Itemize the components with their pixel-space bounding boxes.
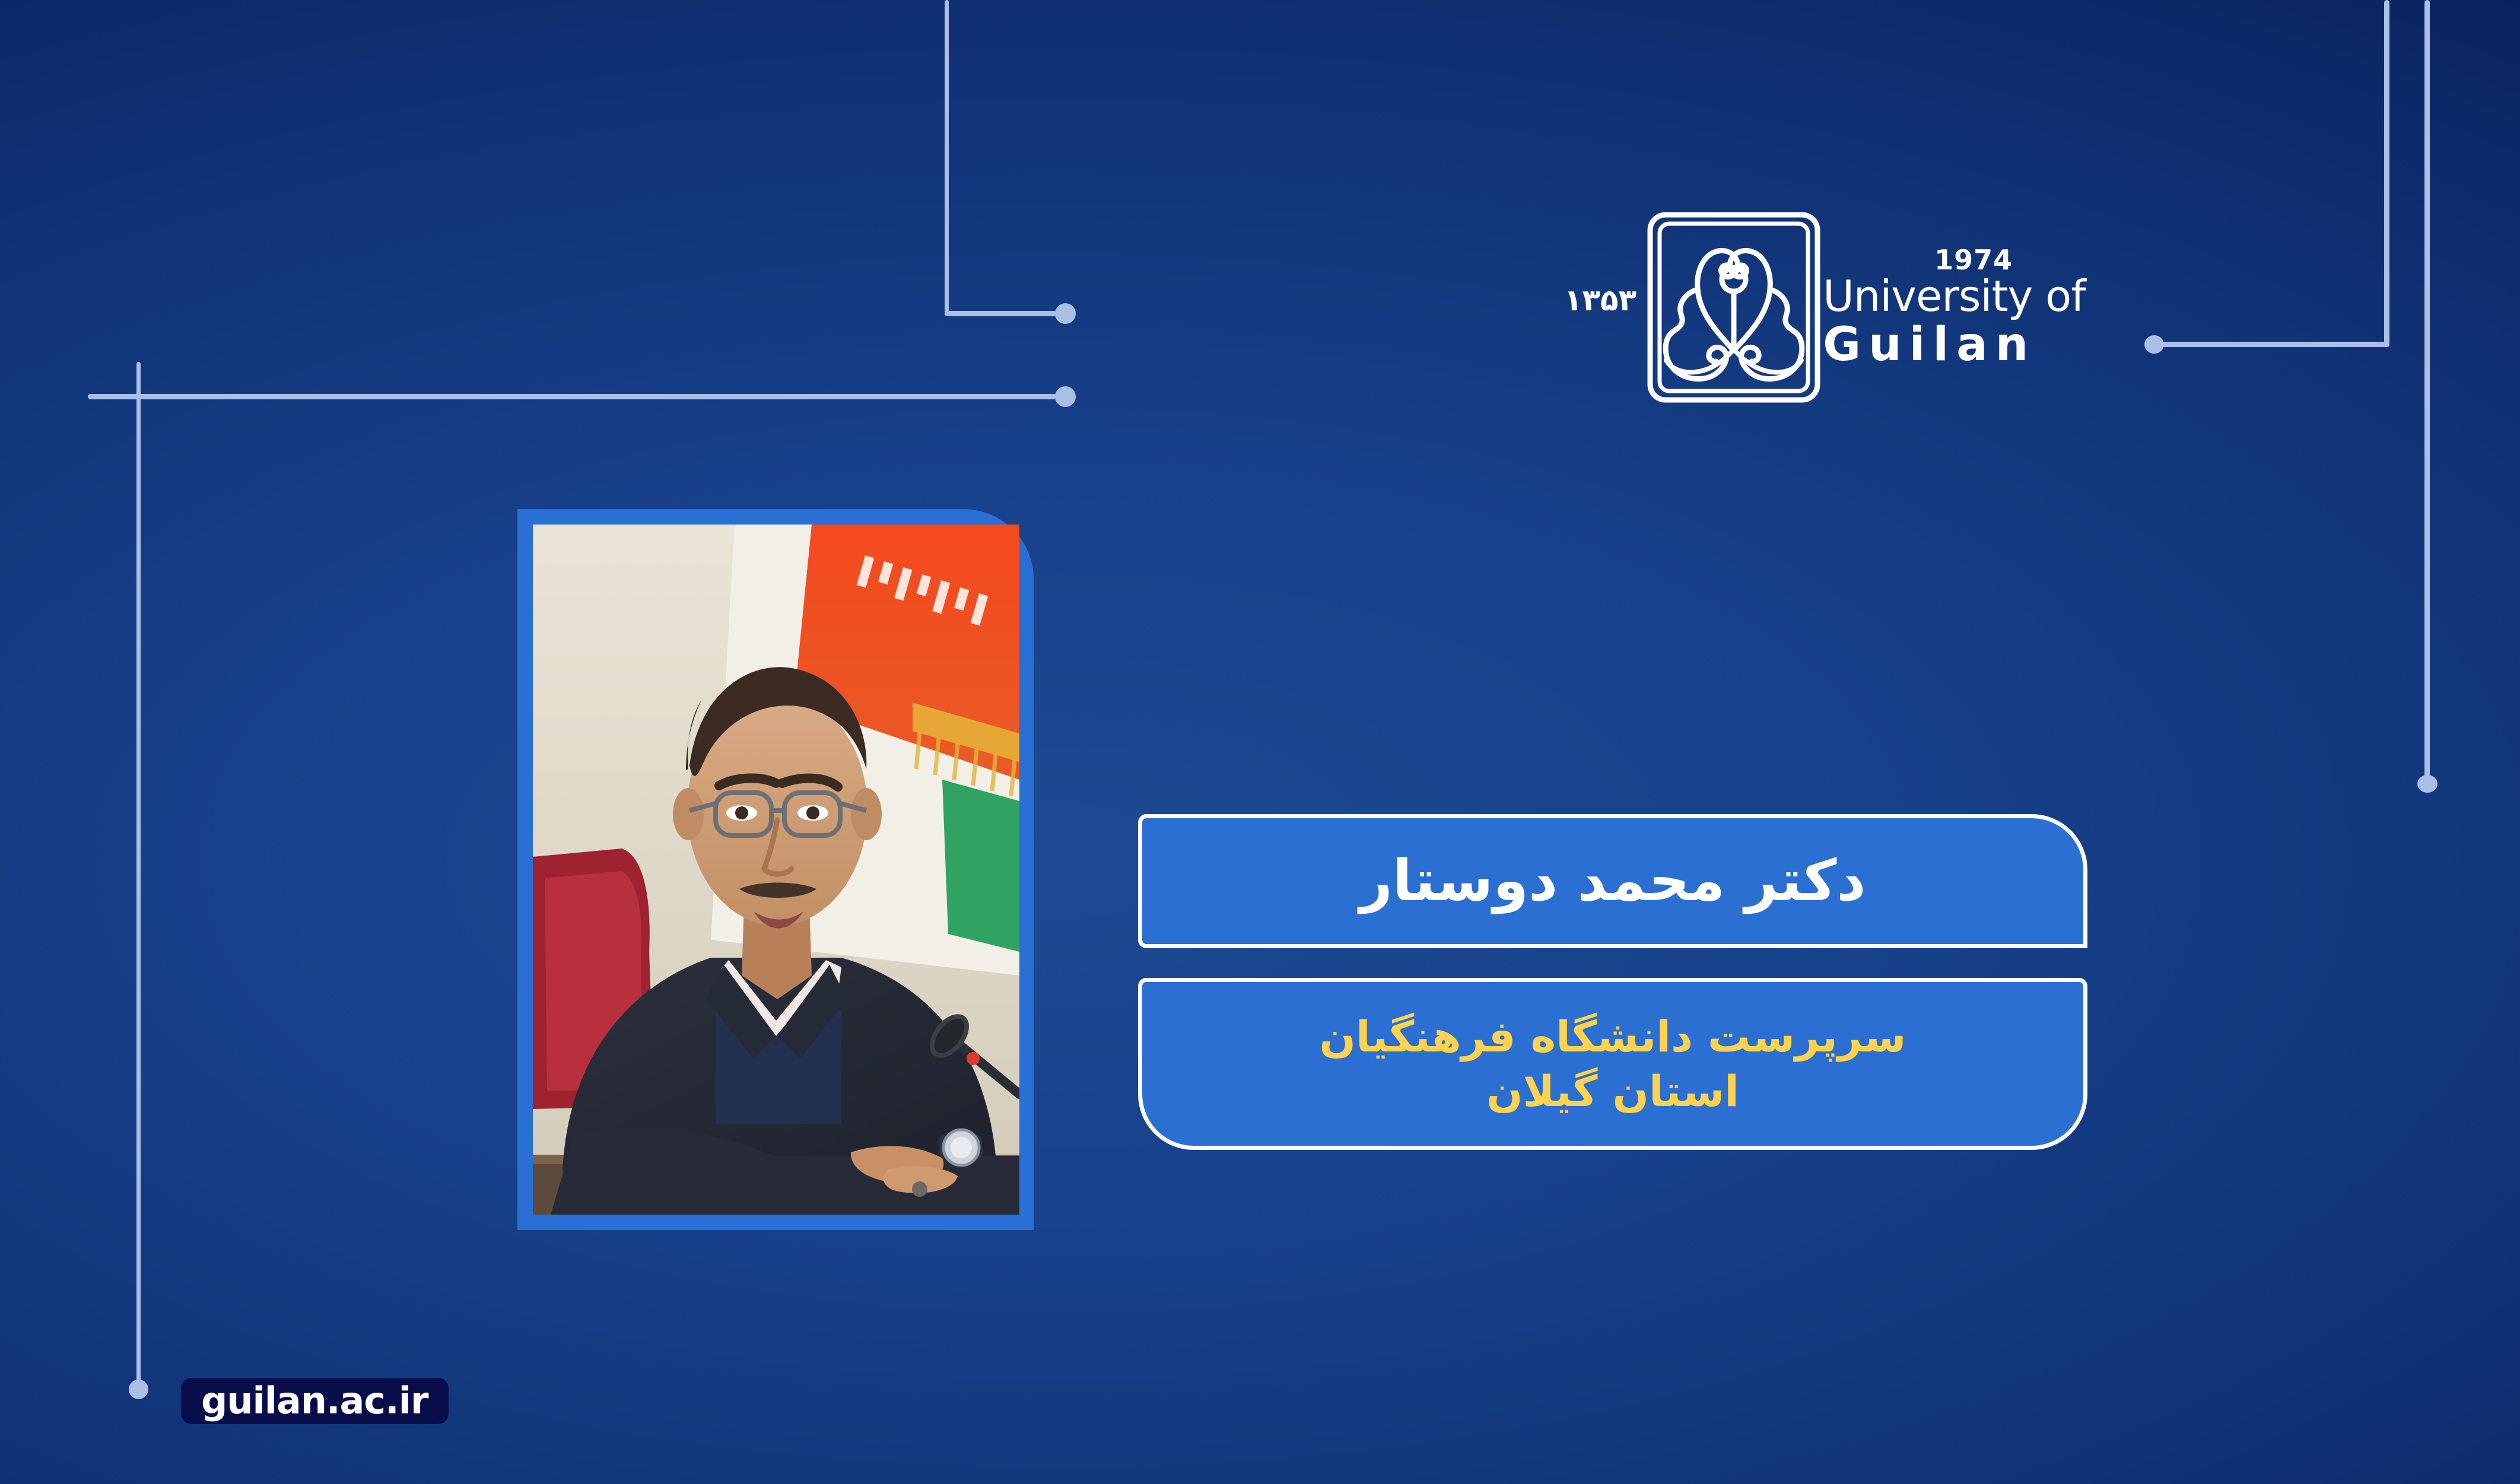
logo-persian-name: دانشگاه گیلان: [1172, 223, 1564, 395]
dot-right-lower-deco: [2417, 775, 2438, 793]
person-name-text: دکتر محمد دوستار: [1359, 850, 1866, 913]
logo-university-of-label: University of: [1823, 275, 2085, 318]
person-title-line1: سرپرست دانشگاه فرهنگیان: [1320, 1012, 1906, 1062]
logo-persian-text: ۱۳۵۳ دانشگاه گیلان: [1172, 223, 1645, 395]
vertical-line-upper-left-deco: [945, 0, 949, 313]
horizontal-line-mid-left-deco: [88, 394, 1073, 399]
vertical-line-left-long-deco: [136, 362, 141, 1386]
dot-mid-left-deco: [1055, 386, 1076, 407]
horizontal-line-right-deco: [2154, 342, 2389, 347]
vertical-line-right-deco: [2384, 0, 2389, 345]
person-title-plate: سرپرست دانشگاه فرهنگیان استان گیلان: [1138, 978, 2087, 1150]
portrait-photo: [533, 525, 1019, 1215]
person-title-text: سرپرست دانشگاه فرهنگیان استان گیلان: [1296, 1009, 1930, 1118]
vertical-line-right-long-deco: [2424, 0, 2430, 782]
portrait-frame: [517, 509, 1034, 1230]
horizontal-line-upper-left-deco: [945, 311, 1072, 316]
logo-year-english: 1974: [1934, 246, 2013, 274]
logo-english-text: 1974 University of Guilan: [1823, 246, 2085, 370]
banner-canvas: 1974 University of Guilan: [0, 0, 2520, 1484]
guilan-university-emblem-icon: [1645, 209, 1823, 408]
dot-bottom-left-deco: [129, 1380, 148, 1399]
website-badge[interactable]: guilan.ac.ir: [181, 1378, 449, 1424]
person-name-plate: دکتر محمد دوستار: [1138, 814, 2087, 948]
dot-upper-left-deco: [1055, 303, 1076, 324]
logo-guilan-label: Guilan: [1823, 320, 2036, 371]
university-logo: 1974 University of Guilan: [1163, 190, 2100, 427]
website-url-text: guilan.ac.ir: [201, 1383, 428, 1419]
person-title-line2: استان گیلان: [1486, 1066, 1739, 1116]
dot-right-deco: [2144, 335, 2164, 354]
svg-text:دانشگاه گیلان: دانشگاه گیلان: [1561, 249, 1564, 379]
logo-year-persian: ۱۳۵۳: [1564, 283, 1636, 317]
